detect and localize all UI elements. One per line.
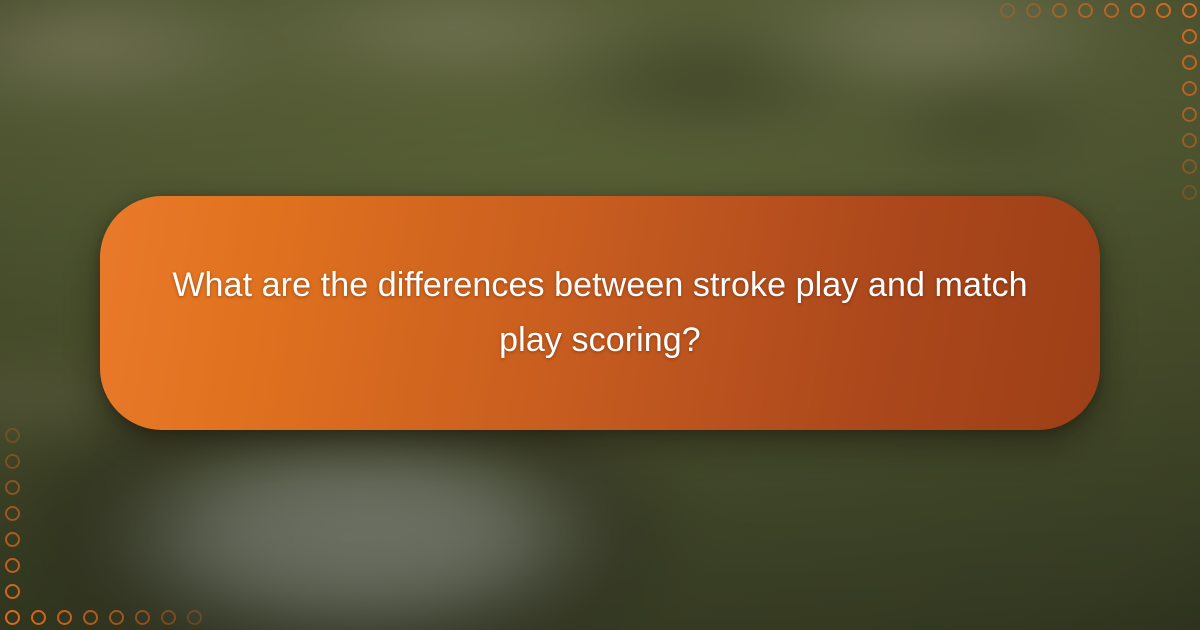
decorative-circle-icon bbox=[5, 610, 20, 625]
decorative-circle-icon bbox=[5, 480, 20, 495]
decorative-circle-icon bbox=[1156, 3, 1171, 18]
decorative-circle-icon bbox=[1026, 3, 1041, 18]
decorative-circle-icon bbox=[135, 610, 150, 625]
decorative-circle-icon bbox=[5, 428, 20, 443]
decorative-circle-icon bbox=[83, 610, 98, 625]
decorative-circle-icon bbox=[161, 610, 176, 625]
decorative-circle-icon bbox=[1182, 107, 1197, 122]
decorative-circle-icon bbox=[1104, 3, 1119, 18]
decorative-circle-icon bbox=[187, 610, 202, 625]
decorative-circle-icon bbox=[1052, 3, 1067, 18]
decorative-circle-icon bbox=[1182, 3, 1197, 18]
decorative-circle-icon bbox=[109, 610, 124, 625]
dot-cluster-top-right bbox=[990, 0, 1200, 210]
decorative-circle-icon bbox=[5, 506, 20, 521]
decorative-circle-icon bbox=[5, 558, 20, 573]
decorative-circle-icon bbox=[1182, 133, 1197, 148]
question-text: What are the differences between stroke … bbox=[164, 258, 1036, 368]
decorative-circle-icon bbox=[5, 532, 20, 547]
decorative-circle-icon bbox=[1000, 3, 1015, 18]
dot-cluster-bottom-left bbox=[0, 420, 210, 630]
decorative-circle-icon bbox=[5, 454, 20, 469]
decorative-circle-icon bbox=[1182, 159, 1197, 174]
decorative-circle-icon bbox=[1078, 3, 1093, 18]
decorative-circle-icon bbox=[1182, 29, 1197, 44]
decorative-circle-icon bbox=[1182, 81, 1197, 96]
decorative-circle-icon bbox=[1182, 185, 1197, 200]
decorative-circle-icon bbox=[57, 610, 72, 625]
decorative-circle-icon bbox=[1130, 3, 1145, 18]
decorative-circle-icon bbox=[31, 610, 46, 625]
decorative-circle-icon bbox=[5, 584, 20, 599]
question-card: What are the differences between stroke … bbox=[100, 196, 1100, 430]
screenshot-stage: What are the differences between stroke … bbox=[0, 0, 1200, 630]
decorative-circle-icon bbox=[1182, 55, 1197, 70]
